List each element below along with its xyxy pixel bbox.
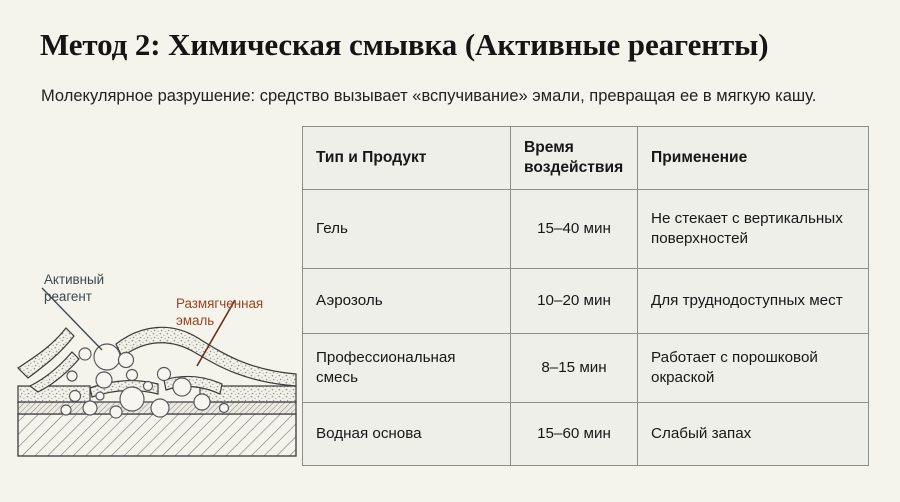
label-softened-enamel: Размягченная эмаль: [176, 296, 263, 329]
cell-time: 15–60 мин: [511, 403, 638, 466]
cell-time: 15–40 мин: [511, 190, 638, 269]
column-header-time-line1: Время: [524, 139, 574, 156]
page-title: Метод 2: Химическая смывка (Активные реа…: [40, 26, 870, 64]
cell-use: Слабый запах: [638, 403, 869, 466]
table-row: Профессиональная смесь 8–15 мин Работает…: [303, 334, 869, 403]
cell-type: Гель: [303, 190, 511, 269]
column-header-time-line2: воздействия: [524, 159, 623, 176]
cell-time: 8–15 мин: [511, 334, 638, 403]
table-row: Аэрозоль 10–20 мин Для труднодоступных м…: [303, 269, 869, 334]
cell-use: Для труднодоступных мест: [638, 269, 869, 334]
cell-use: Не стекает с вертикальных поверхностей: [638, 190, 869, 269]
cell-use: Работает с порошковой окраской: [638, 334, 869, 403]
substrate-layer: [18, 414, 296, 456]
table-row: Водная основа 15–60 мин Слабый запах: [303, 403, 869, 466]
subtitle-text: Молекулярное разрушение: средство вызыва…: [41, 84, 869, 109]
column-header-type: Тип и Продукт: [303, 127, 511, 190]
cell-time: 10–20 мин: [511, 269, 638, 334]
column-header-time: Время воздействия: [511, 127, 638, 190]
cell-type: Аэрозоль: [303, 269, 511, 334]
table-header-row: Тип и Продукт Время воздействия Применен…: [303, 127, 869, 190]
column-header-use: Применение: [638, 127, 869, 190]
cell-type: Водная основа: [303, 403, 511, 466]
slide-root: Метод 2: Химическая смывка (Активные реа…: [0, 0, 900, 502]
product-comparison-table: Тип и Продукт Время воздействия Применен…: [302, 126, 869, 466]
table-row: Гель 15–40 мин Не стекает с вертикальных…: [303, 190, 869, 269]
label-active-reagent: Активный реагент: [44, 272, 104, 305]
cell-type: Профессиональная смесь: [303, 334, 511, 403]
